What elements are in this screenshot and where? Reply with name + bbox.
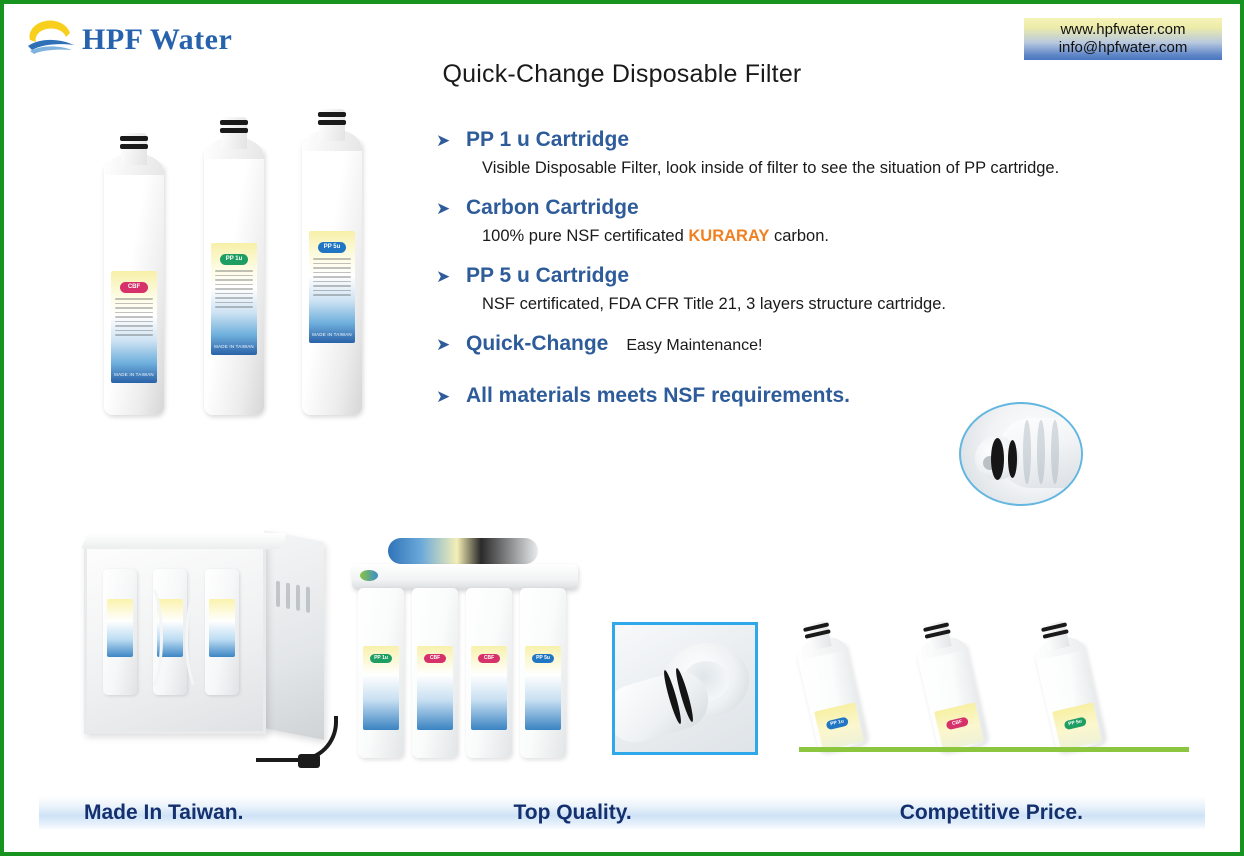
manifold-cartridge-label: CBF — [471, 646, 507, 730]
cartridge-label: PP 5u MADE IN TAIWAN — [309, 231, 355, 343]
manifold-label-chip: PP 1u — [370, 654, 392, 663]
tilted-cartridge: CBF — [916, 641, 988, 754]
tilted-cartridges-photo: PP 1u CBF PP 5u — [799, 632, 1194, 760]
ro-vent — [276, 581, 280, 608]
sun-wave-logo-icon — [24, 20, 80, 60]
cartridge-label-origin: MADE IN TAIWAN — [309, 332, 355, 337]
manifold-cartridge-label: PP 5u — [525, 646, 561, 730]
bullet-item-carbon: ➤ Carbon Cartridge 100% pure NSF certifi… — [436, 196, 1196, 246]
cartridge-neck-oring — [319, 109, 345, 141]
bullet-heading-row: ➤ Carbon Cartridge — [436, 196, 1196, 220]
cartridge-label-chip: PP 5u — [318, 242, 346, 253]
arrow-bullet-icon: ➤ — [436, 336, 466, 353]
cartridge-cbf: CBF MADE IN TAIWAN — [104, 163, 164, 415]
bullet-heading: Carbon Cartridge — [466, 196, 639, 220]
footer-made-in-taiwan: Made In Taiwan. — [84, 801, 243, 825]
arrow-bullet-icon: ➤ — [436, 388, 466, 405]
ro-cartridge-label — [107, 599, 133, 657]
ro-top-cover — [81, 533, 287, 549]
bullet-description-text: Visible Disposable Filter, look inside o… — [482, 159, 1059, 177]
connector-rib — [1037, 420, 1045, 484]
arrow-bullet-icon: ➤ — [436, 132, 466, 149]
cartridge-neck-oring — [221, 117, 247, 149]
bullet-item-nsf: ➤ All materials meets NSF requirements. — [436, 384, 1196, 408]
ro-vent — [306, 586, 310, 613]
email-text[interactable]: info@hpfwater.com — [1030, 39, 1216, 57]
green-baseline — [799, 747, 1189, 752]
ro-vent — [286, 582, 290, 609]
cartridge-label: CBF — [934, 702, 984, 750]
bullet-description: Visible Disposable Filter, look inside o… — [482, 159, 1196, 178]
bullet-description-text: NSF certificated, FDA CFR Title 21, 3 la… — [482, 295, 946, 313]
ro-system-photo — [78, 536, 336, 764]
bullet-item-pp1u: ➤ PP 1 u Cartridge Visible Disposable Fi… — [436, 128, 1196, 178]
manifold-label-chip: CBF — [478, 654, 500, 663]
contact-box: www.hpfwater.com info@hpfwater.com — [1024, 18, 1222, 60]
manifold-logo-icon — [360, 570, 378, 581]
cartridge-label-lines — [115, 298, 153, 336]
cartridge-label-chip: CBF — [946, 717, 969, 731]
bullet-item-quick-change: ➤ Quick-Change Easy Maintenance! — [436, 332, 1196, 356]
bullet-description-text-after: carbon. — [769, 227, 829, 245]
bullet-description-text: 100% pure NSF certificated — [482, 227, 688, 245]
bullet-heading-row: ➤ Quick-Change Easy Maintenance! — [436, 332, 1196, 356]
ro-cabinet — [84, 544, 266, 734]
cartridge-label: PP 5u — [1052, 702, 1102, 750]
ro-vent — [296, 584, 300, 611]
bullet-heading-row: ➤ PP 5 u Cartridge — [436, 264, 1196, 288]
bullet-heading-row: ➤ PP 1 u Cartridge — [436, 128, 1196, 152]
ro-tubing — [131, 581, 163, 695]
cartridge-label-chip: PP 5u — [1064, 717, 1087, 731]
manifold-cartridge: PP 5u — [520, 588, 566, 758]
connector-rib — [1023, 420, 1031, 484]
connector-oring — [991, 438, 1004, 480]
cartridge-neck-oring — [924, 621, 951, 651]
bullet-heading: PP 5 u Cartridge — [466, 264, 629, 288]
cartridge-pp5u: PP 5u MADE IN TAIWAN — [302, 139, 362, 415]
cartridge-label-lines — [215, 270, 253, 308]
feature-bullet-list: ➤ PP 1 u Cartridge Visible Disposable Fi… — [436, 128, 1196, 426]
bullet-heading-row: ➤ All materials meets NSF requirements. — [436, 384, 1196, 408]
connector-rib — [1051, 420, 1059, 484]
footer-banner: Made In Taiwan. Top Quality. Competitive… — [39, 796, 1205, 830]
manifold-cartridge: PP 1u — [358, 588, 404, 758]
website-text[interactable]: www.hpfwater.com — [1030, 21, 1216, 39]
bullet-description: 100% pure NSF certificated KURARAY carbo… — [482, 227, 1196, 246]
cartridge-label-chip: PP 1u — [220, 254, 248, 265]
cartridge-label: PP 1u — [814, 702, 864, 750]
connector-oring — [1008, 440, 1017, 478]
cartridge-label-lines — [313, 258, 351, 296]
manifold-cartridge: CBF — [412, 588, 458, 758]
quick-change-detail-photo — [612, 622, 758, 755]
bullet-description: NSF certificated, FDA CFR Title 21, 3 la… — [482, 295, 1196, 314]
cartridge-label: CBF MADE IN TAIWAN — [111, 271, 157, 383]
bullet-item-pp5u: ➤ PP 5 u Cartridge NSF certificated, FDA… — [436, 264, 1196, 314]
cartridge-label-origin: MADE IN TAIWAN — [111, 372, 157, 377]
ro-side-panel — [264, 530, 324, 740]
cartridge-label: PP 1u MADE IN TAIWAN — [211, 243, 257, 355]
footer-competitive-price: Competitive Price. — [900, 801, 1083, 825]
power-cord — [256, 716, 338, 762]
tilted-cartridge: PP 5u — [1034, 641, 1106, 754]
ro-membrane-housing — [388, 538, 538, 564]
slide-root: HPF Water www.hpfwater.com info@hpfwater… — [0, 0, 1244, 856]
manifold-cartridge-label: CBF — [417, 646, 453, 730]
ro-tubing — [185, 587, 217, 693]
manifold-head-plate — [352, 564, 578, 590]
cartridge-pp1u: PP 1u MADE IN TAIWAN — [204, 147, 264, 415]
bullet-inline-note: Easy Maintenance! — [626, 337, 762, 355]
cartridge-neck-oring — [804, 621, 831, 651]
brand-logo: HPF Water — [24, 18, 232, 62]
tilted-cartridge: PP 1u — [796, 641, 868, 754]
arrow-bullet-icon: ➤ — [436, 268, 466, 285]
manifold-label-chip: CBF — [424, 654, 446, 663]
bullet-heading: Quick-Change — [466, 332, 608, 356]
manifold-cartridge-label: PP 1u — [363, 646, 399, 730]
bullet-heading: PP 1 u Cartridge — [466, 128, 629, 152]
power-plug — [298, 754, 320, 768]
cartridge-trio-photo: CBF MADE IN TAIWAN PP 1u MADE IN TAIWAN — [96, 130, 386, 415]
cartridge-label-chip: PP 1u — [826, 717, 849, 731]
cartridge-label-origin: MADE IN TAIWAN — [211, 344, 257, 349]
connector-round-photo — [959, 402, 1083, 506]
manifold-label-chip: PP 5u — [532, 654, 554, 663]
brand-logo-text: HPF Water — [82, 23, 232, 57]
arrow-bullet-icon: ➤ — [436, 200, 466, 217]
page-title: Quick-Change Disposable Filter — [4, 60, 1240, 89]
footer-top-quality: Top Quality. — [513, 801, 631, 825]
filter-manifold-photo: PP 1u CBF CBF PP 5u — [352, 534, 578, 766]
cartridge-neck-oring — [1042, 621, 1069, 651]
cartridge-label-chip: CBF — [120, 282, 148, 293]
bullet-heading: All materials meets NSF requirements. — [466, 384, 850, 408]
kuraray-highlight: KURARAY — [688, 227, 769, 245]
manifold-cartridge: CBF — [466, 588, 512, 758]
cartridge-neck-oring — [121, 133, 147, 165]
